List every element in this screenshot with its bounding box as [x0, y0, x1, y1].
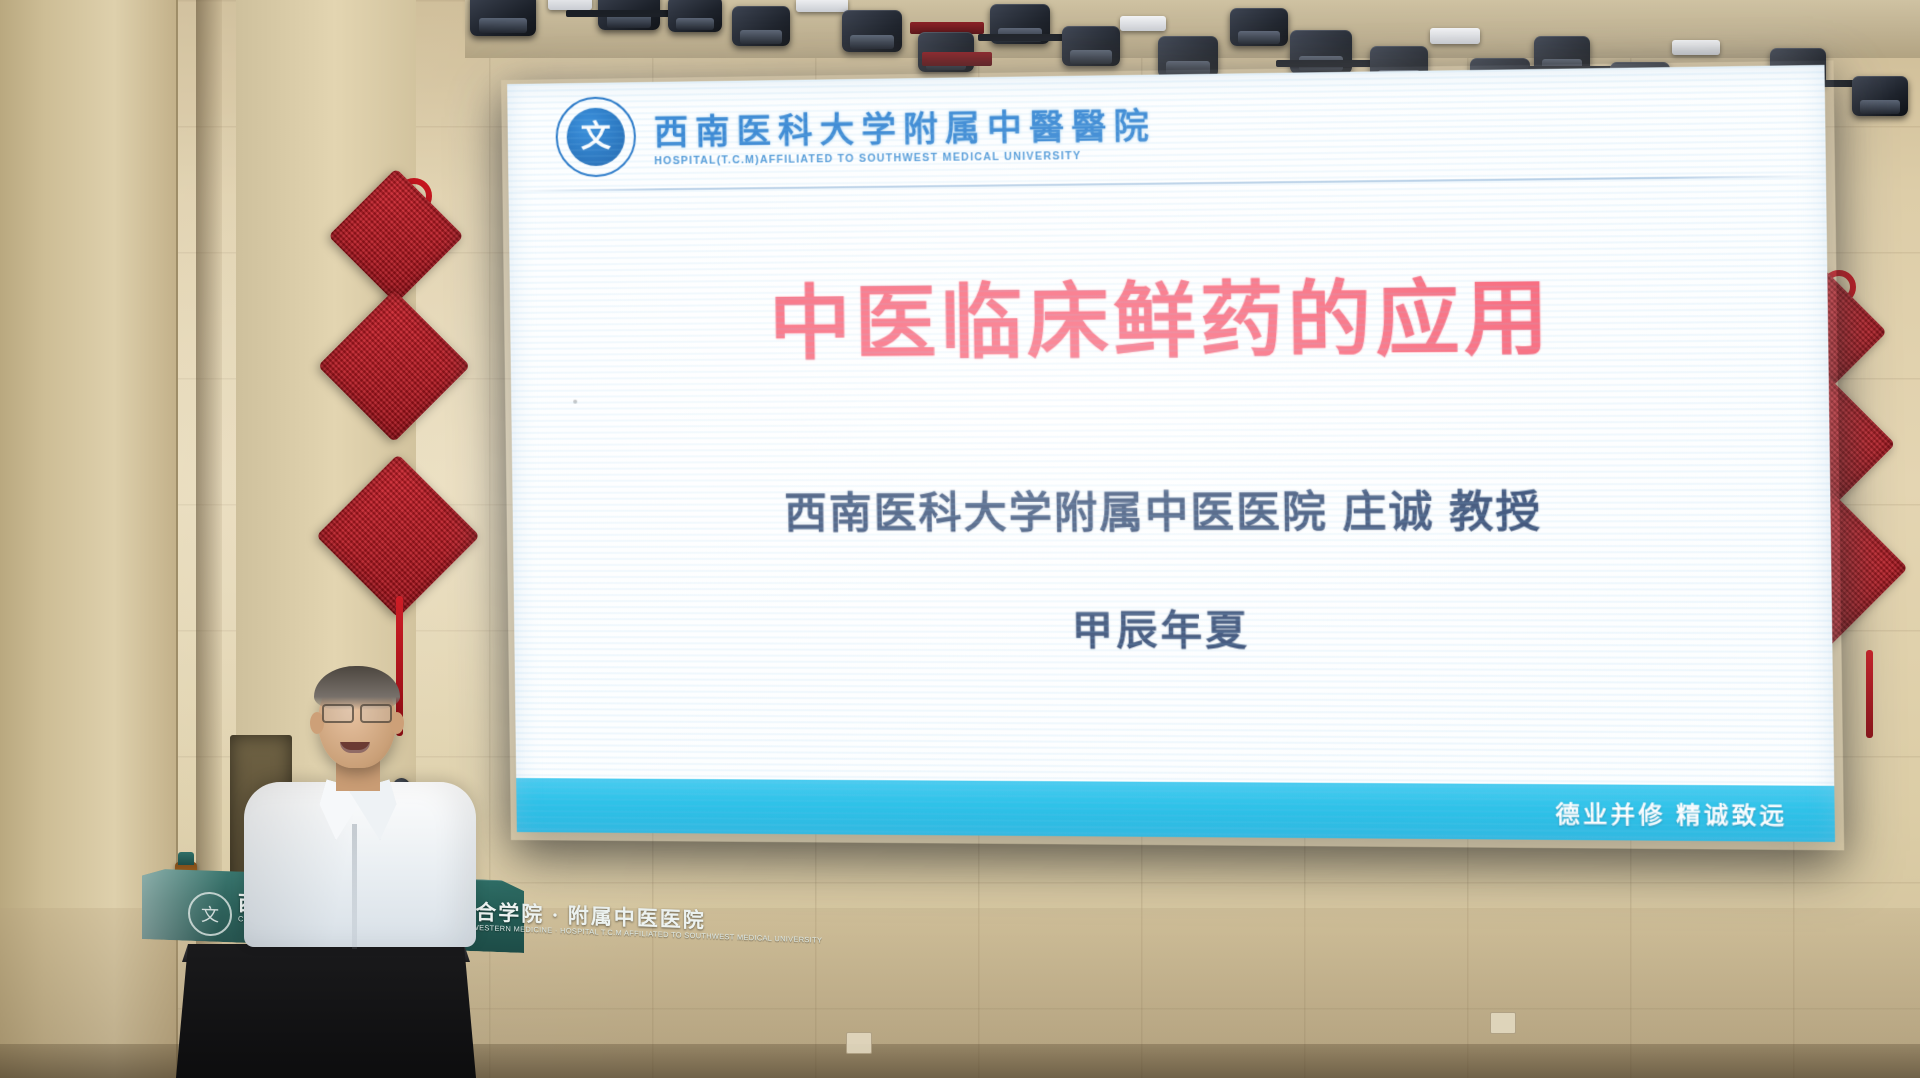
- wall-outlet: [1490, 1012, 1516, 1034]
- podium-body: [176, 944, 476, 1078]
- screen-drop-shadow: [501, 60, 1844, 850]
- truss-red-bar: [922, 52, 992, 66]
- presenter-ear-right: [390, 712, 404, 734]
- presenter-shirt-placket: [352, 824, 357, 949]
- stage-light-panel: [1672, 40, 1720, 55]
- stage-light: [732, 6, 790, 46]
- stage-light-panel: [796, 0, 848, 12]
- stage-light-panel: [548, 0, 592, 10]
- stage-light-panel: [1120, 16, 1166, 31]
- stage-light: [1062, 26, 1120, 66]
- stage-light: [1230, 8, 1288, 46]
- screenshot-root: 文 西南医科大学附属中醫醫院 HOSPITAL(T.C.M)AFFILIATED…: [0, 0, 1920, 1078]
- chinese-knot-tassel: [1866, 650, 1873, 738]
- stage-light: [668, 0, 722, 32]
- wall-outlet: [846, 1032, 872, 1054]
- presenter-glasses: [322, 704, 392, 720]
- college-emblem-icon: 文: [188, 891, 232, 937]
- water-bottle-cap: [178, 852, 194, 865]
- stage-light-panel: [1430, 28, 1480, 44]
- stage-light: [470, 0, 536, 36]
- stage-light: [1852, 76, 1908, 116]
- stage-light: [842, 10, 902, 52]
